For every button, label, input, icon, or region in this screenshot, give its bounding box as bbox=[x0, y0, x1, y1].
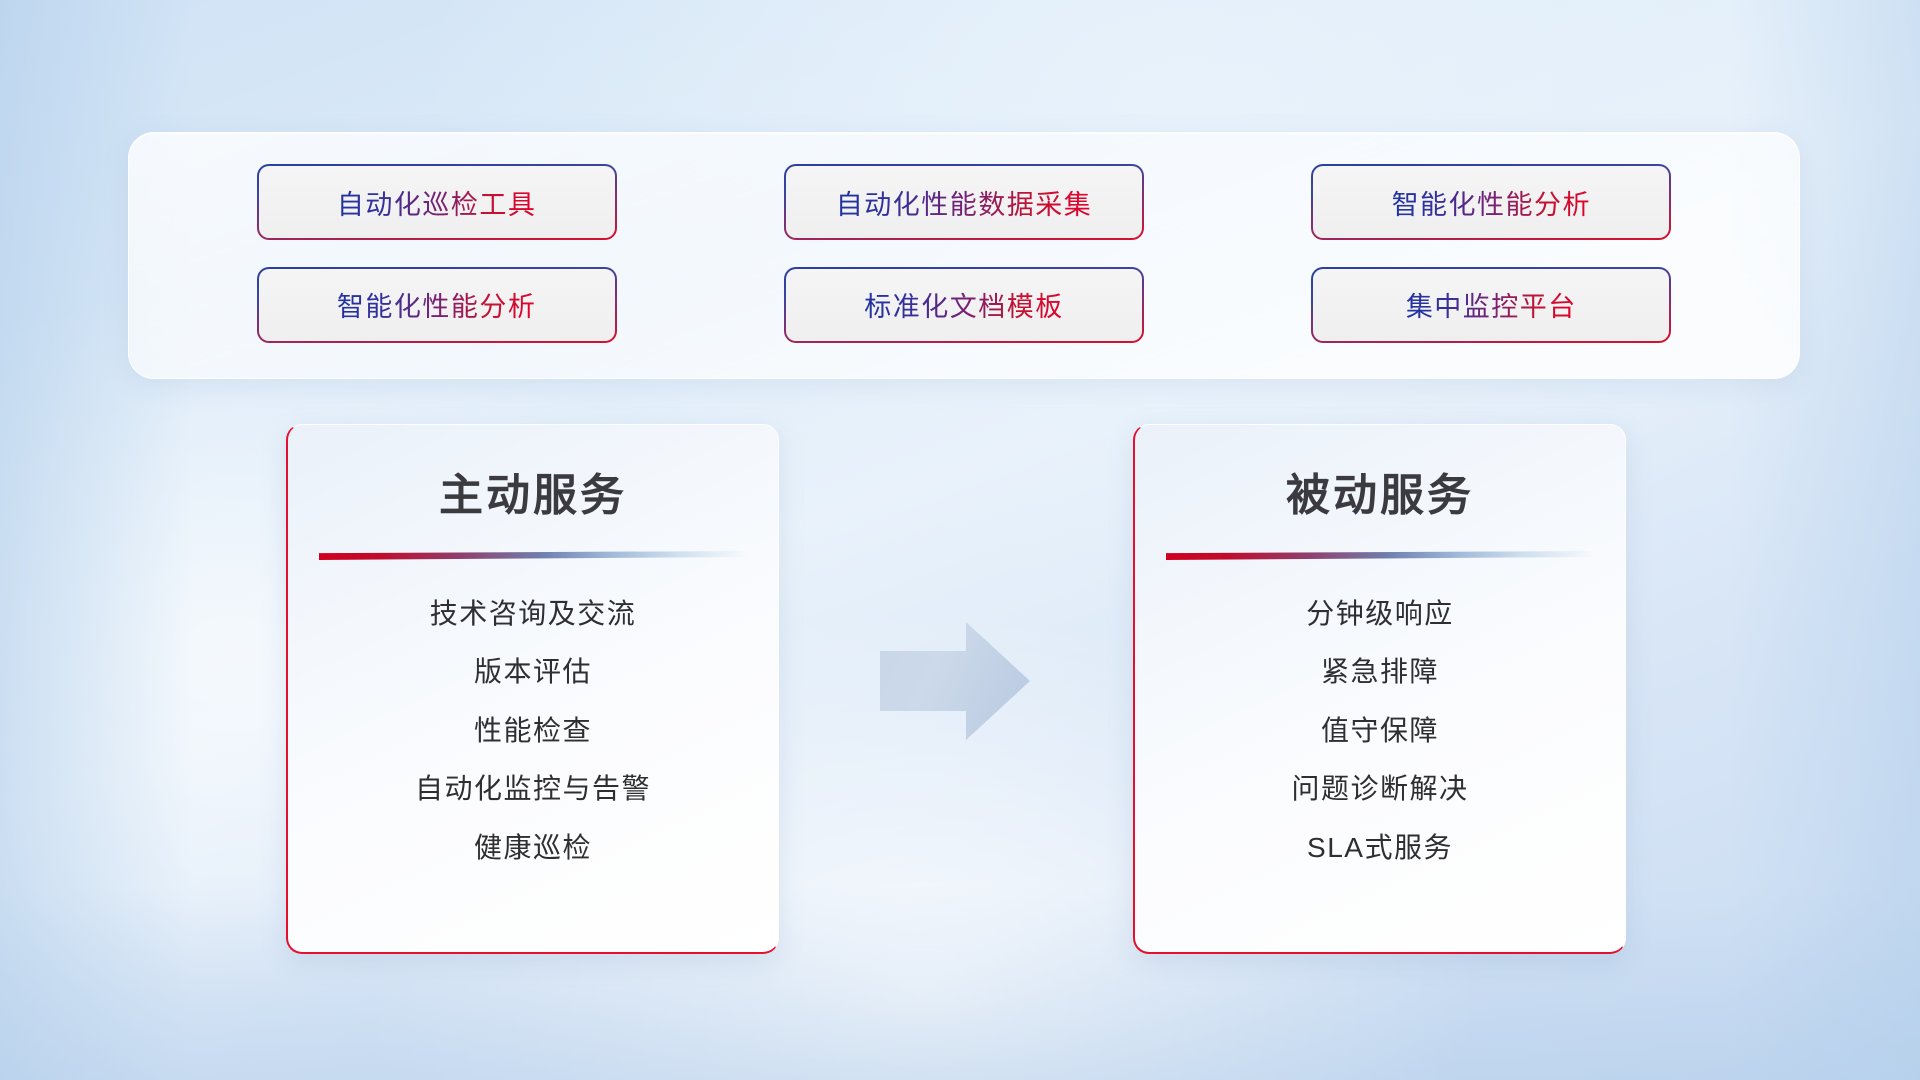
list-item: 问题诊断解决 bbox=[1135, 771, 1625, 807]
list-item: 版本评估 bbox=[288, 654, 778, 690]
capability-tools-panel: 自动化巡检工具 自动化性能数据采集 智能化性能分析 智能化性能分析 标准化文档模… bbox=[128, 132, 1800, 379]
tool-chip-label: 智能化性能分析 bbox=[1392, 183, 1592, 222]
tool-chip-4[interactable]: 智能化性能分析 bbox=[259, 269, 615, 341]
slide-canvas: 自动化巡检工具 自动化性能数据采集 智能化性能分析 智能化性能分析 标准化文档模… bbox=[0, 0, 1920, 1080]
list-item: 紧急排障 bbox=[1135, 654, 1625, 690]
list-item: 性能检查 bbox=[288, 713, 778, 749]
tool-chip-2[interactable]: 自动化性能数据采集 bbox=[786, 166, 1142, 238]
tool-chip-label: 自动化巡检工具 bbox=[337, 183, 537, 222]
tool-chip-label: 标准化文档模板 bbox=[864, 285, 1064, 324]
tool-chip-3[interactable]: 智能化性能分析 bbox=[1313, 166, 1669, 238]
tool-chip-1[interactable]: 自动化巡检工具 bbox=[259, 166, 615, 238]
tool-chip-6[interactable]: 集中监控平台 bbox=[1313, 269, 1669, 341]
arrow-right-icon bbox=[874, 618, 1036, 744]
list-item: 健康巡检 bbox=[288, 830, 778, 866]
list-item: SLA式服务 bbox=[1135, 830, 1625, 866]
list-item: 值守保障 bbox=[1135, 713, 1625, 749]
service-card-reactive: 被动服务 分钟级响应 紧急排障 值守保障 问题诊断解决 SLA式服务 bbox=[1133, 424, 1626, 954]
card-item-list: 技术咨询及交流 版本评估 性能检查 自动化监控与告警 健康巡检 bbox=[288, 596, 778, 866]
tool-chip-5[interactable]: 标准化文档模板 bbox=[786, 269, 1142, 341]
card-divider bbox=[1166, 551, 1594, 560]
card-item-list: 分钟级响应 紧急排障 值守保障 问题诊断解决 SLA式服务 bbox=[1135, 596, 1625, 866]
tool-chip-label: 自动化性能数据采集 bbox=[836, 183, 1093, 222]
service-card-proactive: 主动服务 技术咨询及交流 版本评估 性能检查 自动化监控与告警 健康巡检 bbox=[286, 424, 779, 954]
card-title: 被动服务 bbox=[1135, 459, 1625, 523]
divider-gradient-bar bbox=[1166, 551, 1594, 560]
list-item: 分钟级响应 bbox=[1135, 596, 1625, 632]
list-item: 技术咨询及交流 bbox=[288, 596, 778, 632]
card-divider bbox=[319, 551, 747, 560]
card-title: 主动服务 bbox=[288, 459, 778, 523]
tool-chip-label: 智能化性能分析 bbox=[337, 285, 537, 324]
divider-gradient-bar bbox=[319, 551, 747, 560]
tool-chip-label: 集中监控平台 bbox=[1406, 285, 1577, 324]
list-item: 自动化监控与告警 bbox=[288, 771, 778, 807]
